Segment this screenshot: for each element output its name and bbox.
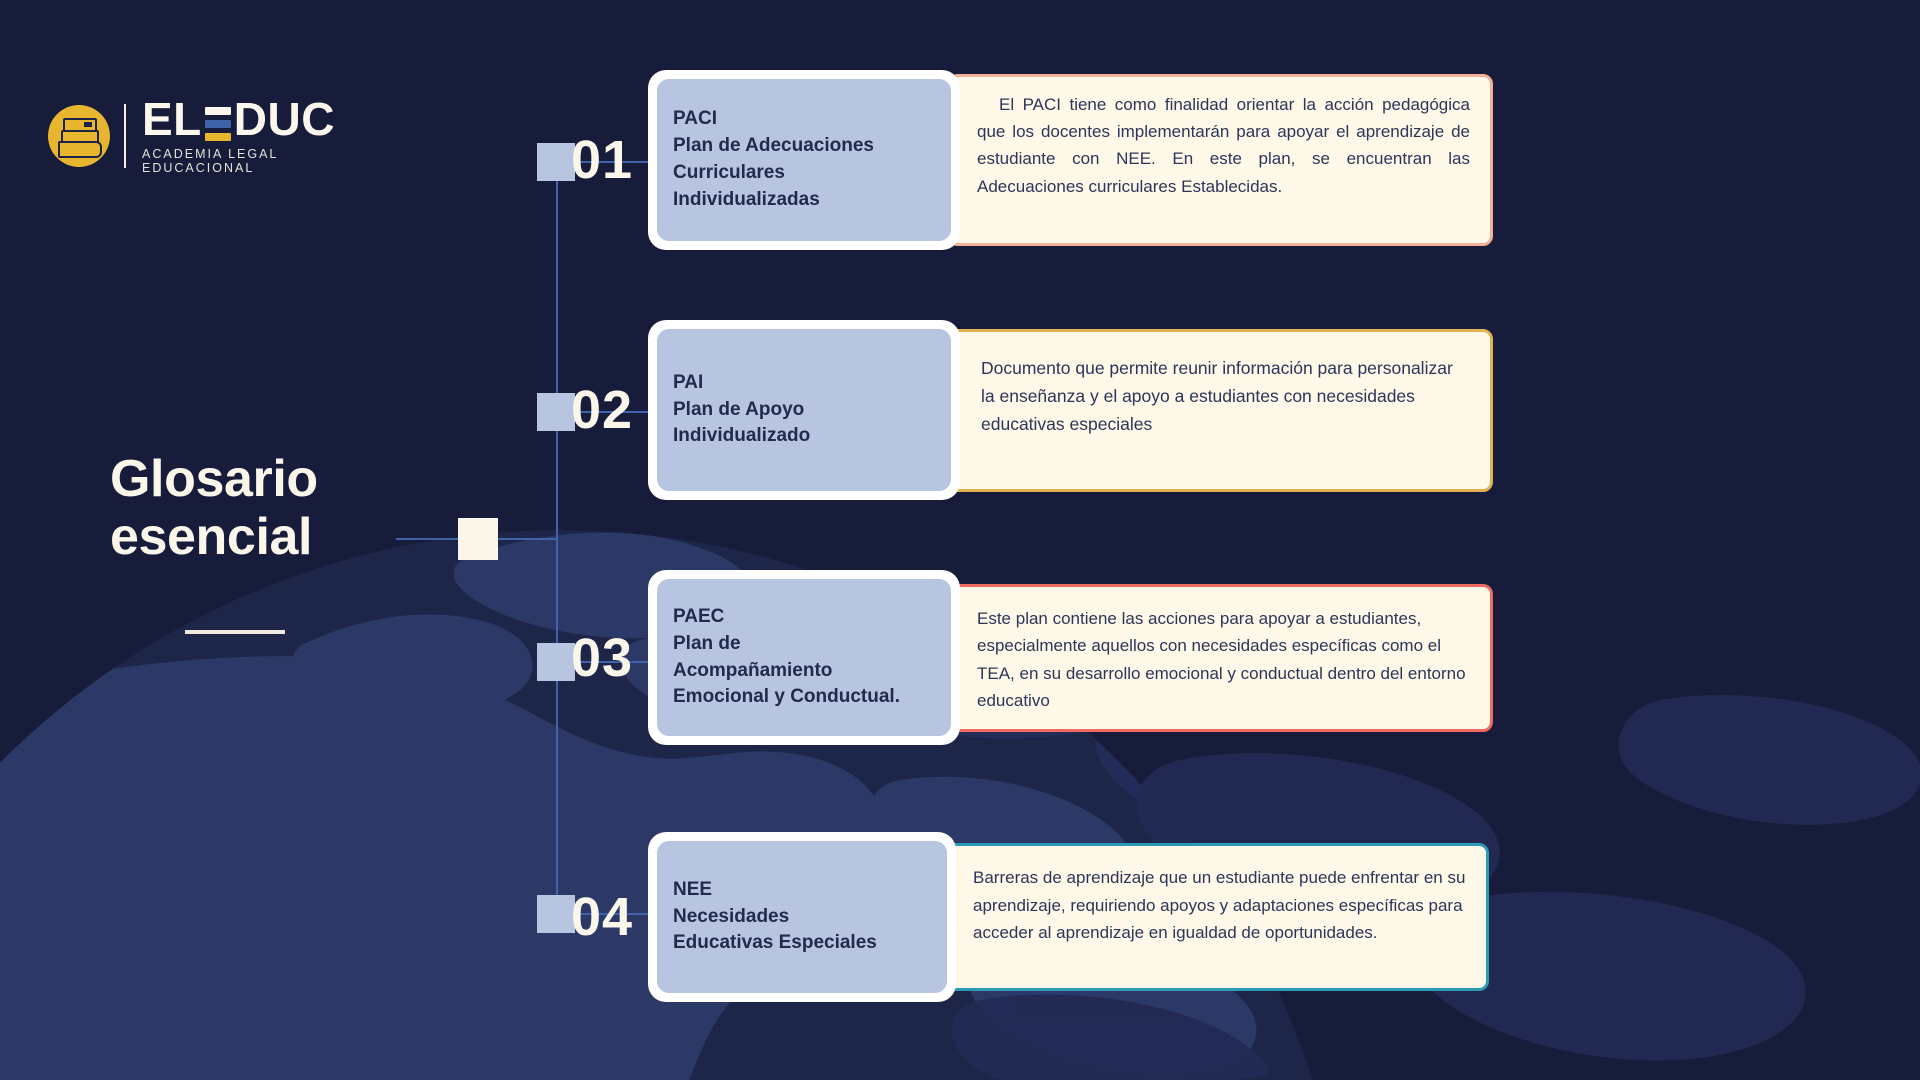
- step-number-03: 03: [556, 631, 648, 685]
- term-full-01: Plan de Adecuaciones Curriculares Indivi…: [673, 133, 937, 214]
- page-title-block: Glosario esencial: [110, 450, 318, 634]
- term-card-03[interactable]: PAEC Plan de Acompañamiento Emocional y …: [648, 570, 960, 745]
- logo-divider: [124, 104, 126, 168]
- description-card-04: Barreras de aprendizaje que un estudiant…: [944, 843, 1489, 991]
- term-abbr-03: PAEC: [673, 604, 937, 631]
- term-card-01[interactable]: PACI Plan de Adecuaciones Curriculares I…: [648, 70, 960, 250]
- page-title: Glosario esencial: [110, 450, 318, 566]
- tricolor-e-icon: [205, 107, 231, 141]
- term-full-02: Plan de Apoyo Individualizado: [673, 397, 937, 451]
- term-full-03: Plan de Acompañamiento Emocional y Condu…: [673, 631, 937, 712]
- glossary-row-01: 01 PACI Plan de Adecuaciones Curriculare…: [556, 70, 1493, 250]
- brand-name-part1: EL: [142, 96, 202, 142]
- timeline-node-title[interactable]: [458, 518, 498, 560]
- term-full-04: Necesidades Educativas Especiales: [673, 904, 933, 958]
- brand-logo: EL DUC ACADEMIA LEGAL EDUCACIONAL: [48, 98, 348, 173]
- step-number-04: 04: [556, 890, 648, 944]
- glossary-row-04: 04 NEE Necesidades Educativas Especiales…: [556, 832, 1489, 1002]
- title-underline-rule: [185, 630, 285, 634]
- brand-name-part2: DUC: [234, 96, 335, 142]
- glossary-row-03: 03 PAEC Plan de Acompañamiento Emocional…: [556, 570, 1493, 745]
- term-abbr-04: NEE: [673, 877, 933, 904]
- description-card-02: Documento que permite reunir información…: [948, 329, 1493, 492]
- brand-wordmark: EL DUC: [142, 96, 348, 142]
- description-card-03: Este plan contiene las acciones para apo…: [948, 584, 1493, 732]
- slide-canvas: EL DUC ACADEMIA LEGAL EDUCACIONAL Glosar…: [0, 0, 1920, 1080]
- term-abbr-02: PAI: [673, 370, 937, 397]
- step-number-01: 01: [556, 133, 648, 187]
- books-stack-icon: [48, 105, 110, 167]
- brand-tagline: ACADEMIA LEGAL EDUCACIONAL: [142, 147, 348, 175]
- glossary-row-02: 02 PAI Plan de Apoyo Individualizado Doc…: [556, 320, 1493, 500]
- timeline-spine: [556, 160, 558, 920]
- step-number-02: 02: [556, 383, 648, 437]
- description-card-01: El PACI tiene como finalidad orientar la…: [948, 74, 1493, 246]
- term-card-04[interactable]: NEE Necesidades Educativas Especiales: [648, 832, 956, 1002]
- term-card-02[interactable]: PAI Plan de Apoyo Individualizado: [648, 320, 960, 500]
- term-abbr-01: PACI: [673, 106, 937, 133]
